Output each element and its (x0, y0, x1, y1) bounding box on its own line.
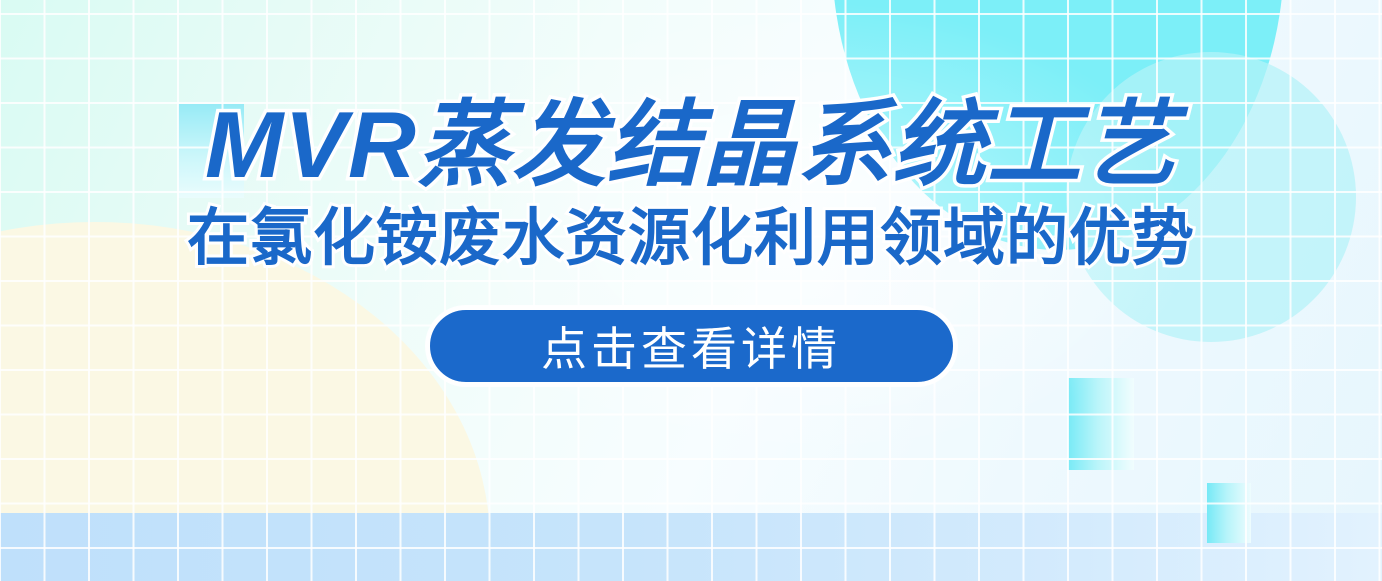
cta-container: 点击查看详情 (426, 306, 957, 386)
banner-content: MVR蒸发结晶系统工艺 在氯化铵废水资源化利用领域的优势 点击查看详情 (0, 0, 1382, 581)
view-details-button[interactable]: 点击查看详情 (426, 306, 957, 386)
banner-subtitle: 在氯化铵废水资源化利用领域的优势 (187, 208, 1195, 270)
banner-title: MVR蒸发结晶系统工艺 (205, 98, 1177, 192)
promo-banner: MVR蒸发结晶系统工艺 在氯化铵废水资源化利用领域的优势 点击查看详情 (0, 0, 1382, 581)
